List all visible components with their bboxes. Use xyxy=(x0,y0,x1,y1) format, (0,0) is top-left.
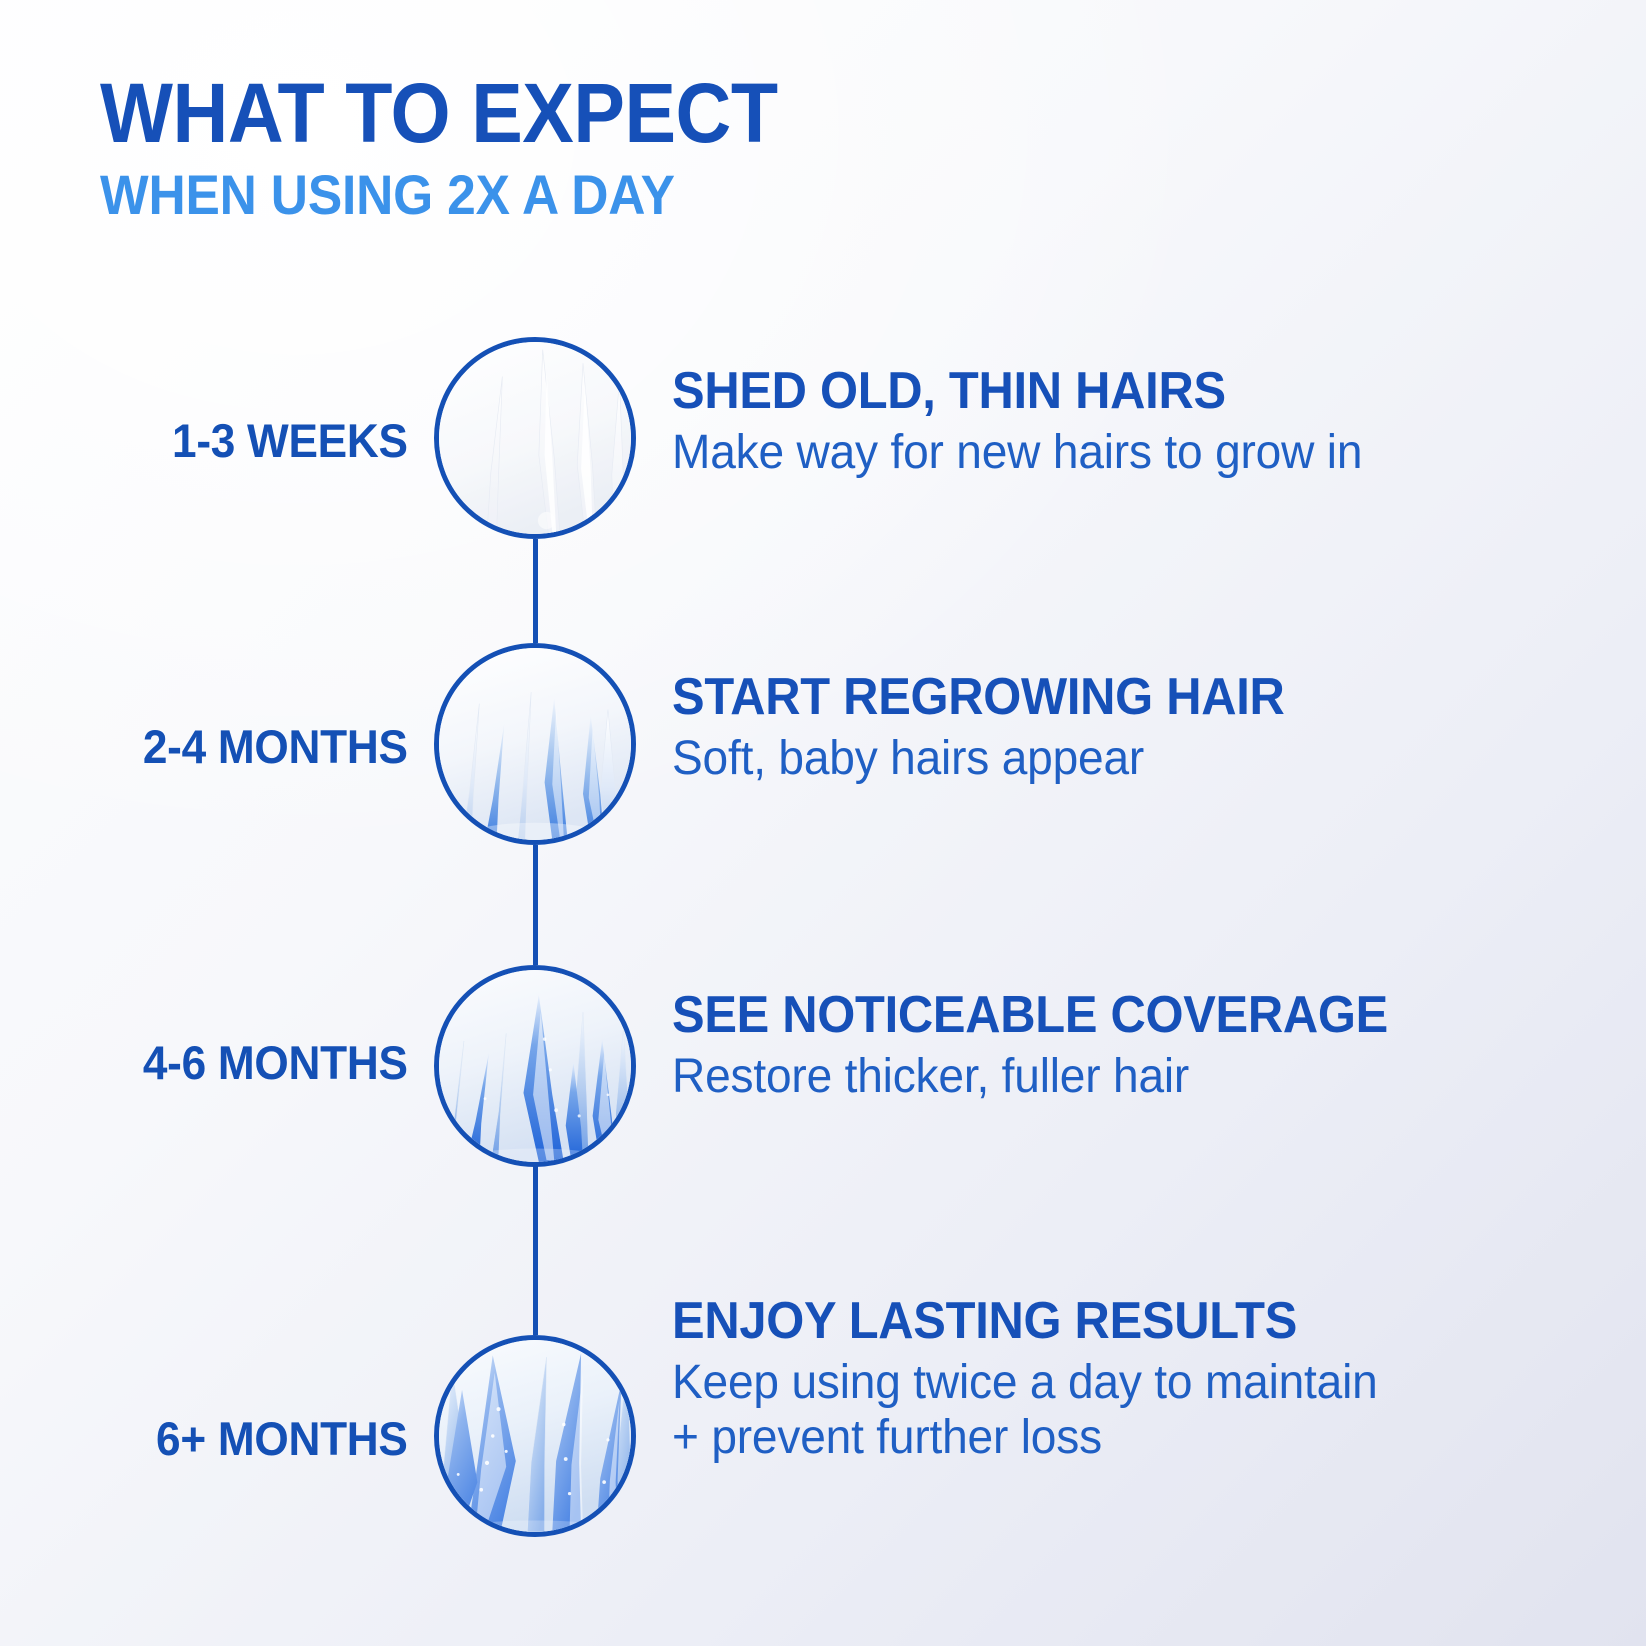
step-copy: SHED OLD, THIN HAIRS Make way for new ha… xyxy=(672,365,1492,481)
step-description: Soft, baby hairs appear xyxy=(672,732,1459,787)
step-image-hair-strands-dense-blue xyxy=(434,965,636,1167)
step-period-label: 6+ MONTHS xyxy=(156,1411,408,1466)
step-title: SHED OLD, THIN HAIRS xyxy=(672,365,1443,418)
hair-strands-icon xyxy=(439,970,631,1162)
step-copy: ENJOY LASTING RESULTS Keep using twice a… xyxy=(672,1295,1492,1465)
step-image-hair-strands-sparse-pale xyxy=(434,337,636,539)
step-title: SEE NOTICEABLE COVERAGE xyxy=(672,989,1443,1042)
step-description: Keep using twice a day to maintain + pre… xyxy=(672,1356,1459,1465)
step-title: START REGROWING HAIR xyxy=(672,671,1443,724)
step-copy: SEE NOTICEABLE COVERAGE Restore thicker,… xyxy=(672,989,1492,1105)
step-period-label: 2-4 MONTHS xyxy=(143,719,408,774)
timeline-connector-2 xyxy=(533,845,538,965)
hair-strands-icon xyxy=(439,1340,631,1532)
step-description: Restore thicker, fuller hair xyxy=(672,1050,1459,1105)
hair-strands-icon xyxy=(439,342,631,534)
step-period-label: 1-3 WEEKS xyxy=(172,413,408,468)
infographic-canvas: WHAT TO EXPECT WHEN USING 2X A DAY 1-3 W… xyxy=(0,0,1646,1646)
timeline: 1-3 WEEKS xyxy=(0,0,1646,1646)
timeline-connector-1 xyxy=(533,539,538,643)
step-copy: START REGROWING HAIR Soft, baby hairs ap… xyxy=(672,671,1492,787)
step-image-hair-strands-baby-blue xyxy=(434,643,636,845)
step-description: Make way for new hairs to grow in xyxy=(672,426,1459,481)
hair-strands-icon xyxy=(439,648,631,840)
step-image-hair-strands-full-thick-blue xyxy=(434,1335,636,1537)
timeline-connector-3 xyxy=(533,1155,538,1335)
step-period-label: 4-6 MONTHS xyxy=(143,1035,408,1090)
step-title: ENJOY LASTING RESULTS xyxy=(672,1295,1443,1348)
